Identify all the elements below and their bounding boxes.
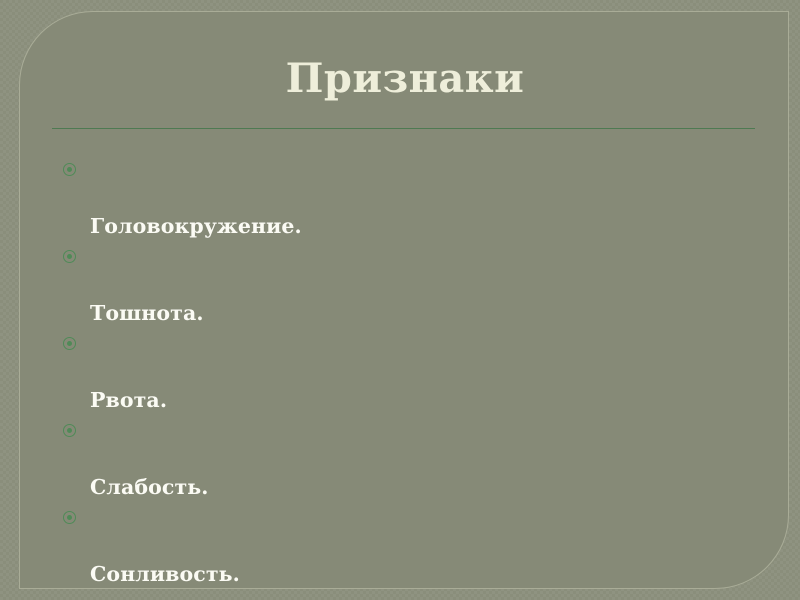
list-item-label: Головокружение.: [90, 214, 302, 238]
list-item: Головокружение.: [43, 154, 763, 241]
slide-title-area: Признаки: [20, 59, 789, 99]
list-item: Сонливость.: [43, 502, 763, 589]
list-item-label: Слабость.: [90, 475, 209, 499]
list-item: Рвота.: [43, 328, 763, 415]
list-item-label: Рвота.: [90, 388, 167, 412]
ring-dot-bullet-icon: [63, 424, 76, 437]
slide-canvas: Признаки Головокружение. Тошнота. Рвота.…: [0, 0, 800, 600]
ring-dot-bullet-icon: [63, 163, 76, 176]
ring-dot-bullet-icon: [63, 250, 76, 263]
ring-dot-bullet-icon: [63, 337, 76, 350]
ring-dot-bullet-icon: [63, 511, 76, 524]
symptoms-bullet-list: Головокружение. Тошнота. Рвота. Слабость…: [43, 154, 763, 589]
list-item: Слабость.: [43, 415, 763, 502]
list-item-label: Тошнота.: [90, 301, 204, 325]
list-item: Тошнота.: [43, 241, 763, 328]
page-title: Признаки: [20, 59, 789, 99]
list-item-label: Сонливость.: [90, 562, 240, 586]
slide-content-panel: Признаки Головокружение. Тошнота. Рвота.…: [19, 11, 789, 589]
title-divider-rule: [52, 128, 755, 129]
